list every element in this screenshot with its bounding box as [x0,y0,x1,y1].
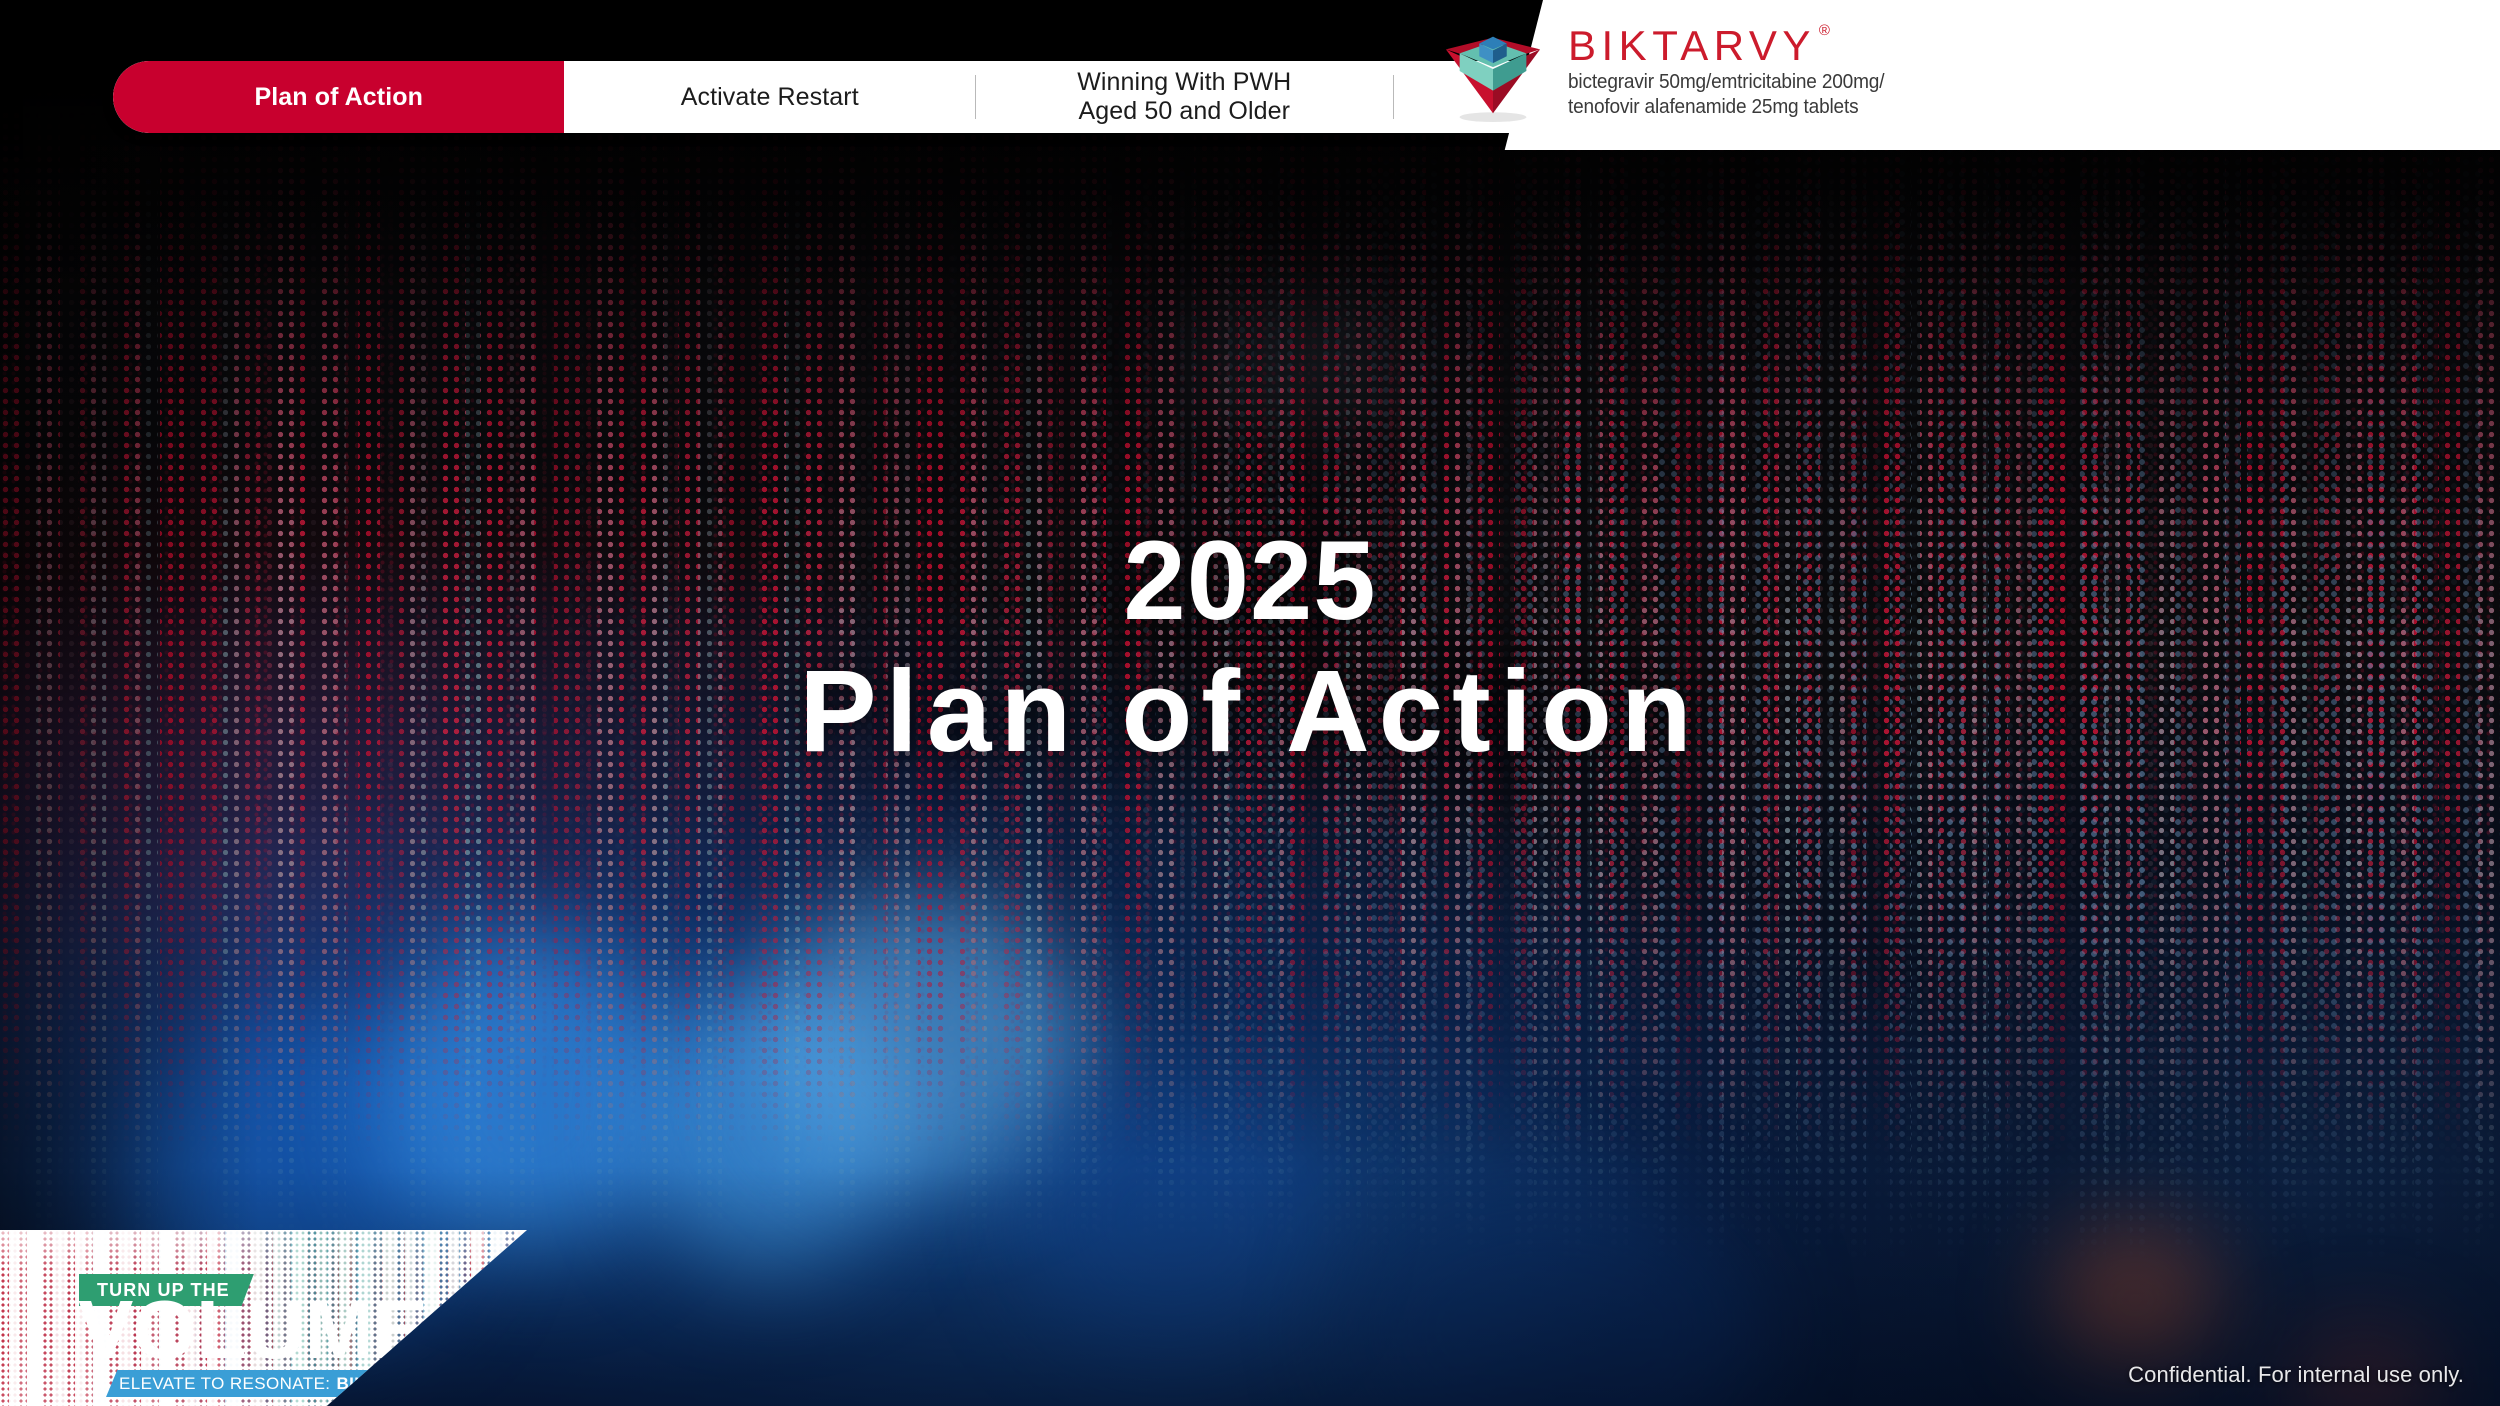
brand-logo-inner: BIKTARVY® bictegravir 50mg/emtricitabine… [1434,13,2484,131]
confidential-notice: Confidential. For internal use only. [2128,1362,2464,1388]
slide-canvas: Plan of Action Activate Restart Winning … [0,0,2500,1406]
brand-name: BIKTARVY [1568,25,1816,67]
badge-tagline-prefix: ELEVATE TO RESONATE: [119,1374,330,1394]
background-base [0,0,2500,1406]
registered-mark: ® [1819,23,1830,38]
nav-tab-plan-of-action[interactable]: Plan of Action [113,61,564,133]
brand-wordmark: BIKTARVY® [1568,25,1908,67]
brand-logo-panel: BIKTARVY® bictegravir 50mg/emtricitabine… [2208,0,2500,150]
biktarvy-pyramid-logo-icon [1434,20,1552,124]
badge-wordmark: VOLUME [78,1288,427,1371]
brand-text-block: BIKTARVY® bictegravir 50mg/emtricitabine… [1568,25,1908,118]
nav-tab-winning-with-pwh[interactable]: Winning With PWH Aged 50 and Older [976,61,1393,133]
brand-subtitle: bictegravir 50mg/emtricitabine 200mg/ te… [1568,70,1884,118]
nav-tab-activate-restart[interactable]: Activate Restart [564,61,975,133]
